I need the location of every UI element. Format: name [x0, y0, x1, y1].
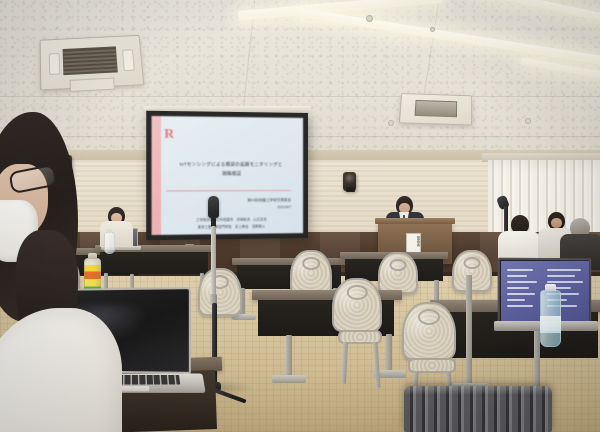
ceiling-sensor-icon	[388, 120, 394, 126]
table-leg	[466, 275, 472, 387]
water-bottle[interactable]	[540, 290, 561, 347]
slide-meta: 第43回地盤工学研究発表会 2021/9/7	[247, 197, 291, 211]
table-leg	[434, 280, 439, 302]
table-leg	[386, 334, 392, 374]
slide-left-band	[152, 116, 162, 235]
foreground-person	[0, 112, 114, 432]
foreground-person-shoulder	[0, 308, 122, 432]
chair[interactable]	[452, 250, 492, 292]
chair-seat[interactable]	[408, 358, 456, 373]
podium-sign-text: 発表者	[407, 236, 420, 246]
stand-upper-pole	[211, 226, 216, 298]
slide-divider	[166, 190, 291, 191]
slide-title-line-1: IoTセンシングによる橋梁の長期モニタリングと	[168, 161, 293, 170]
bottle-cap	[545, 284, 556, 291]
bottle-label	[540, 316, 561, 333]
conference-room-photo: R IoTセンシングによる橋梁の長期モニタリングと 損傷検証 第43回地盤工学研…	[0, 0, 600, 432]
slide-title-line-2: 損傷検証	[168, 170, 293, 179]
suitcase[interactable]	[404, 386, 552, 432]
chair[interactable]	[378, 252, 418, 294]
wall-speaker-icon	[343, 172, 356, 191]
ceiling-seam	[0, 96, 600, 97]
table-leg	[286, 335, 292, 379]
ceiling-sensor-icon	[430, 27, 435, 32]
ceiling-sensor-icon	[366, 15, 373, 22]
slide-title: IoTセンシングによる橋梁の長期モニタリングと 損傷検証	[168, 161, 293, 179]
table-foot	[272, 375, 306, 383]
microphone-icon	[208, 196, 219, 218]
microphone-icon	[496, 195, 510, 211]
slide-logo: R	[164, 126, 173, 139]
chair[interactable]	[402, 302, 456, 360]
chair[interactable]	[332, 278, 382, 332]
attendee-face	[551, 218, 562, 228]
ceiling-sensor-icon	[525, 118, 531, 124]
slide-date: 2021/9/7	[247, 204, 291, 211]
ceiling-ac-unit	[399, 93, 472, 125]
ceiling-ac-unit	[40, 35, 145, 91]
